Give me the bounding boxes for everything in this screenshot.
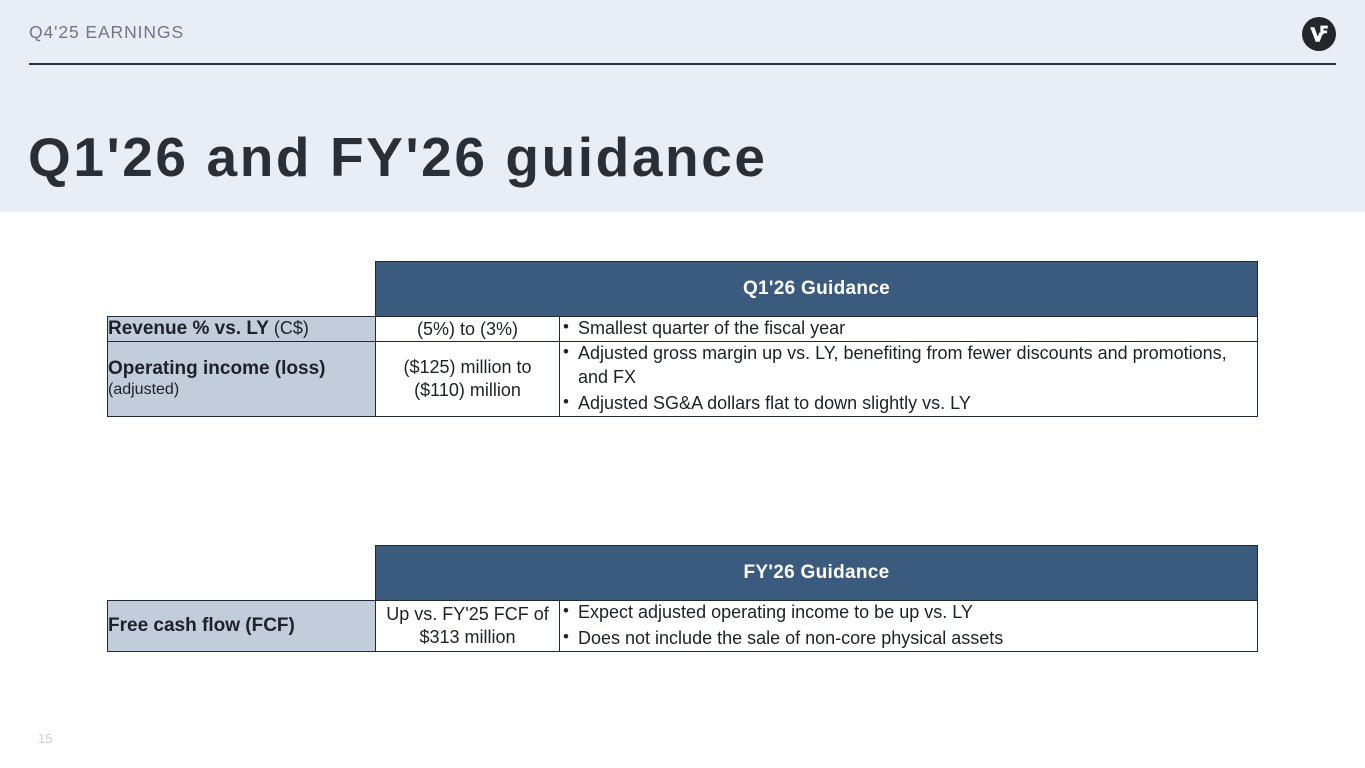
row-bullets-free-cash-flow: Expect adjusted operating income to be u… bbox=[560, 601, 1258, 652]
row-value-operating-income: ($125) million to ($110) million bbox=[376, 341, 560, 416]
row-label-operating-income: Operating income (loss) (adjusted) bbox=[108, 341, 376, 416]
row-label-main: Revenue % vs. LY bbox=[108, 318, 269, 339]
row-label-main: Operating income (loss) bbox=[108, 358, 325, 379]
row-label-revenue: Revenue % vs. LY (C$) bbox=[108, 317, 376, 342]
row-label-sub: (adjusted) bbox=[108, 380, 375, 399]
deck-eyebrow: Q4'25 EARNINGS bbox=[29, 22, 184, 43]
page-title: Q1'26 and FY'26 guidance bbox=[28, 130, 768, 185]
fy26-guidance-table: FY'26 Guidance Free cash flow (FCF) Up v… bbox=[107, 545, 1258, 652]
vf-logo-icon bbox=[1302, 17, 1336, 51]
row-label-free-cash-flow: Free cash flow (FCF) bbox=[108, 601, 376, 652]
table-row: Revenue % vs. LY (C$) (5%) to (3%) Small… bbox=[108, 317, 1258, 342]
row-value-revenue: (5%) to (3%) bbox=[376, 317, 560, 342]
header-divider bbox=[29, 63, 1336, 65]
row-bullets-revenue: Smallest quarter of the fiscal year bbox=[560, 317, 1258, 342]
table-header-label: FY'26 Guidance bbox=[376, 546, 1258, 601]
page-number: 15 bbox=[38, 731, 52, 746]
row-value-free-cash-flow: Up vs. FY'25 FCF of $313 million bbox=[376, 601, 560, 652]
header-spacer bbox=[108, 262, 376, 317]
q1-guidance-table: Q1'26 Guidance Revenue % vs. LY (C$) (5%… bbox=[107, 261, 1258, 417]
list-item: Smallest quarter of the fiscal year bbox=[578, 317, 1257, 341]
header-spacer bbox=[108, 546, 376, 601]
table-header-label: Q1'26 Guidance bbox=[376, 262, 1258, 317]
table-header-row: Q1'26 Guidance bbox=[108, 262, 1258, 317]
list-item: Does not include the sale of non-core ph… bbox=[578, 627, 1257, 651]
table-row: Operating income (loss) (adjusted) ($125… bbox=[108, 341, 1258, 416]
row-label-main: Free cash flow (FCF) bbox=[108, 615, 295, 636]
title-band: Q4'25 EARNINGS Q1'26 and FY'26 guidance bbox=[0, 0, 1365, 212]
row-bullets-operating-income: Adjusted gross margin up vs. LY, benefit… bbox=[560, 341, 1258, 416]
list-item: Adjusted gross margin up vs. LY, benefit… bbox=[578, 342, 1257, 390]
row-label-sub: (C$) bbox=[269, 318, 309, 338]
table-row: Free cash flow (FCF) Up vs. FY'25 FCF of… bbox=[108, 601, 1258, 652]
table-header-row: FY'26 Guidance bbox=[108, 546, 1258, 601]
list-item: Adjusted SG&A dollars flat to down sligh… bbox=[578, 392, 1257, 416]
list-item: Expect adjusted operating income to be u… bbox=[578, 601, 1257, 625]
